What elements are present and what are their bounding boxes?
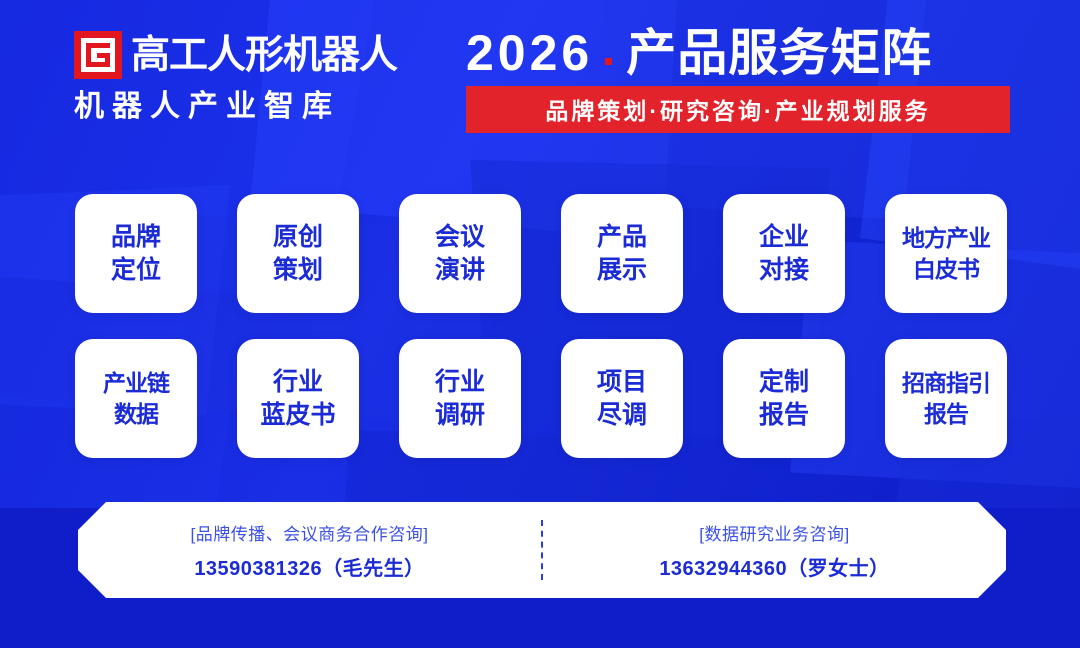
- service-card-label: 行业 蓝皮书: [260, 366, 335, 432]
- contact-panel: [品牌传播、会议商务合作咨询] 13590381326（毛先生） [数据研究业务…: [78, 502, 1006, 598]
- contact-phone[interactable]: 13632944360（罗女士）: [659, 552, 889, 581]
- title-banner: 品牌策划·研究咨询·产业规划服务: [466, 86, 1010, 133]
- contact-label: [数据研究业务咨询]: [699, 520, 849, 545]
- service-card-original-planning[interactable]: 原创 策划: [237, 194, 359, 313]
- title-block: 2026 产品服务矩阵 品牌策划·研究咨询·产业规划服务: [466, 26, 1014, 133]
- contact-data-research: [数据研究业务咨询] 13632944360（罗女士）: [543, 520, 1006, 581]
- gaogong-g-logo-icon: [74, 31, 122, 79]
- service-card-label: 企业 对接: [759, 221, 809, 287]
- service-card-enterprise-matching[interactable]: 企业 对接: [723, 194, 845, 313]
- service-card-label: 产品 展示: [597, 221, 647, 287]
- service-card-label: 定制 报告: [759, 366, 809, 432]
- poster-root: 高工人形机器人 机器人产业智库 2026 产品服务矩阵 品牌策划·研究咨询·产业…: [0, 0, 1080, 648]
- service-card-brand-positioning[interactable]: 品牌 定位: [75, 194, 197, 313]
- page-title: 2026 产品服务矩阵: [466, 26, 1014, 80]
- service-card-label: 会议 演讲: [435, 221, 485, 287]
- contact-brand-business: [品牌传播、会议商务合作咨询] 13590381326（毛先生）: [78, 520, 541, 581]
- brand-lockup: 高工人形机器人 机器人产业智库: [74, 28, 424, 123]
- contact-label: [品牌传播、会议商务合作咨询]: [191, 520, 429, 545]
- service-card-local-industry-whitepaper[interactable]: 地方产业 白皮书: [885, 194, 1007, 313]
- service-card-conference-speech[interactable]: 会议 演讲: [399, 194, 521, 313]
- title-main-text: 产品服务矩阵: [626, 26, 932, 80]
- service-card-label: 项目 尽调: [597, 366, 647, 432]
- service-card-industry-bluebook[interactable]: 行业 蓝皮书: [237, 339, 359, 458]
- service-card-label: 产业链 数据: [103, 368, 169, 429]
- service-card-label: 地方产业 白皮书: [902, 223, 990, 284]
- title-separator-dot: [605, 58, 612, 65]
- service-card-grid: 品牌 定位 原创 策划 会议 演讲 产品 展示 企业 对接 地方产业 白皮书 产…: [75, 194, 1010, 458]
- service-card-label: 行业 调研: [435, 366, 485, 432]
- brand-subtitle: 机器人产业智库: [74, 90, 424, 123]
- service-card-label: 原创 策划: [273, 221, 323, 287]
- service-card-industry-chain-data[interactable]: 产业链 数据: [75, 339, 197, 458]
- poster-header: 高工人形机器人 机器人产业智库 2026 产品服务矩阵 品牌策划·研究咨询·产业…: [0, 0, 1080, 158]
- service-card-label: 招商指引 报告: [902, 368, 990, 429]
- service-card-label: 品牌 定位: [111, 221, 161, 287]
- contact-phone[interactable]: 13590381326（毛先生）: [194, 552, 424, 581]
- brand-primary-row: 高工人形机器人: [74, 28, 424, 82]
- brand-name: 高工人形机器人: [131, 36, 397, 75]
- service-card-custom-report[interactable]: 定制 报告: [723, 339, 845, 458]
- service-card-investment-guide-report[interactable]: 招商指引 报告: [885, 339, 1007, 458]
- service-card-product-display[interactable]: 产品 展示: [561, 194, 683, 313]
- title-year: 2026: [466, 26, 593, 80]
- service-card-project-due-diligence[interactable]: 项目 尽调: [561, 339, 683, 458]
- service-card-industry-research[interactable]: 行业 调研: [399, 339, 521, 458]
